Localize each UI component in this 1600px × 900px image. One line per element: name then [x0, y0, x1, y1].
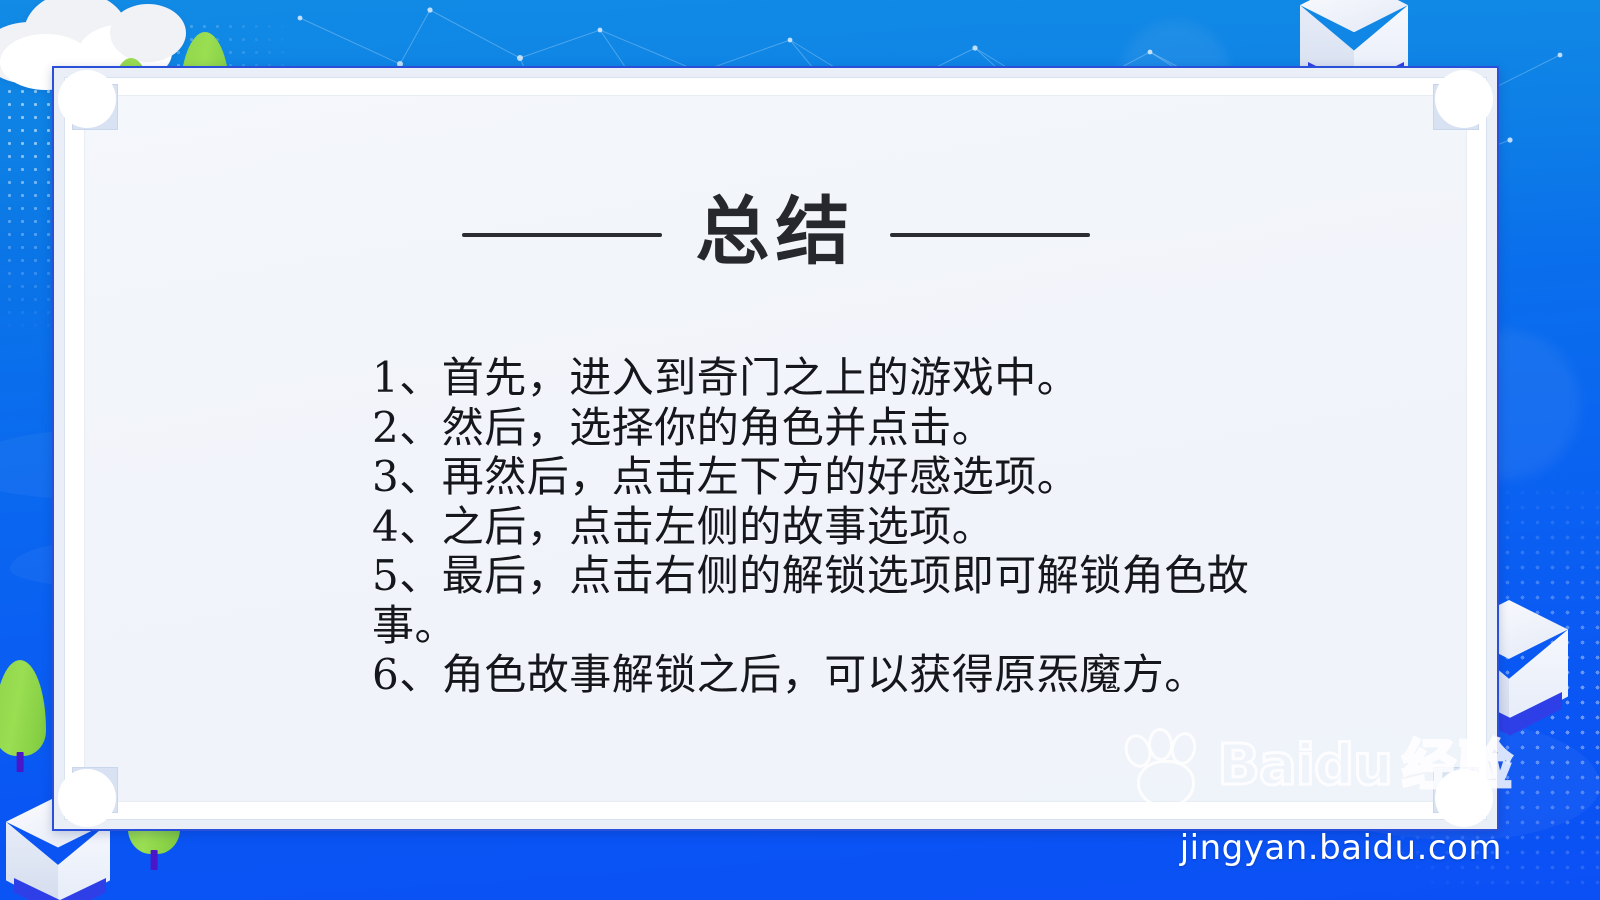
content-frame-inner: 总结 1、首先，进入到奇门之上的游戏中。 2、然后，选择你的角色并点击。 3、再…: [64, 77, 1487, 820]
frame-corner-notch-bottom-left: [72, 767, 118, 813]
step-line: 3、再然后，点击左下方的好感选项。: [372, 452, 1382, 502]
frame-corner-notch-top-right: [1433, 84, 1479, 130]
step-line-wrap: 事。: [372, 601, 1382, 651]
content-frame: 总结 1、首先，进入到奇门之上的游戏中。 2、然后，选择你的角色并点击。 3、再…: [52, 66, 1499, 831]
step-line: 1、首先，进入到奇门之上的游戏中。: [372, 353, 1382, 403]
card-content: 总结 1、首先，进入到奇门之上的游戏中。 2、然后，选择你的角色并点击。 3、再…: [84, 95, 1467, 802]
step-line: 2、然后，选择你的角色并点击。: [372, 403, 1382, 453]
steps-list: 1、首先，进入到奇门之上的游戏中。 2、然后，选择你的角色并点击。 3、再然后，…: [372, 353, 1382, 700]
frame-corner-notch-bottom-right: [1433, 767, 1479, 813]
slide-canvas: 总结 1、首先，进入到奇门之上的游戏中。 2、然后，选择你的角色并点击。 3、再…: [0, 0, 1600, 900]
step-line: 4、之后，点击左侧的故事选项。: [372, 502, 1382, 552]
page-title: 总结: [696, 195, 856, 275]
step-line: 6、角色故事解锁之后，可以获得原炁魔方。: [372, 650, 1382, 700]
title-rule-left: [462, 233, 662, 237]
content-card: 总结 1、首先，进入到奇门之上的游戏中。 2、然后，选择你的角色并点击。 3、再…: [84, 95, 1467, 802]
frame-corner-notch-top-left: [72, 84, 118, 130]
step-line: 5、最后，点击右侧的解锁选项即可解锁角色故: [372, 551, 1382, 601]
watermark-url: jingyan.baidu.com: [1180, 828, 1502, 868]
tree-icon: [0, 660, 46, 772]
title-rule-right: [890, 233, 1090, 237]
title-row: 总结: [84, 195, 1467, 275]
